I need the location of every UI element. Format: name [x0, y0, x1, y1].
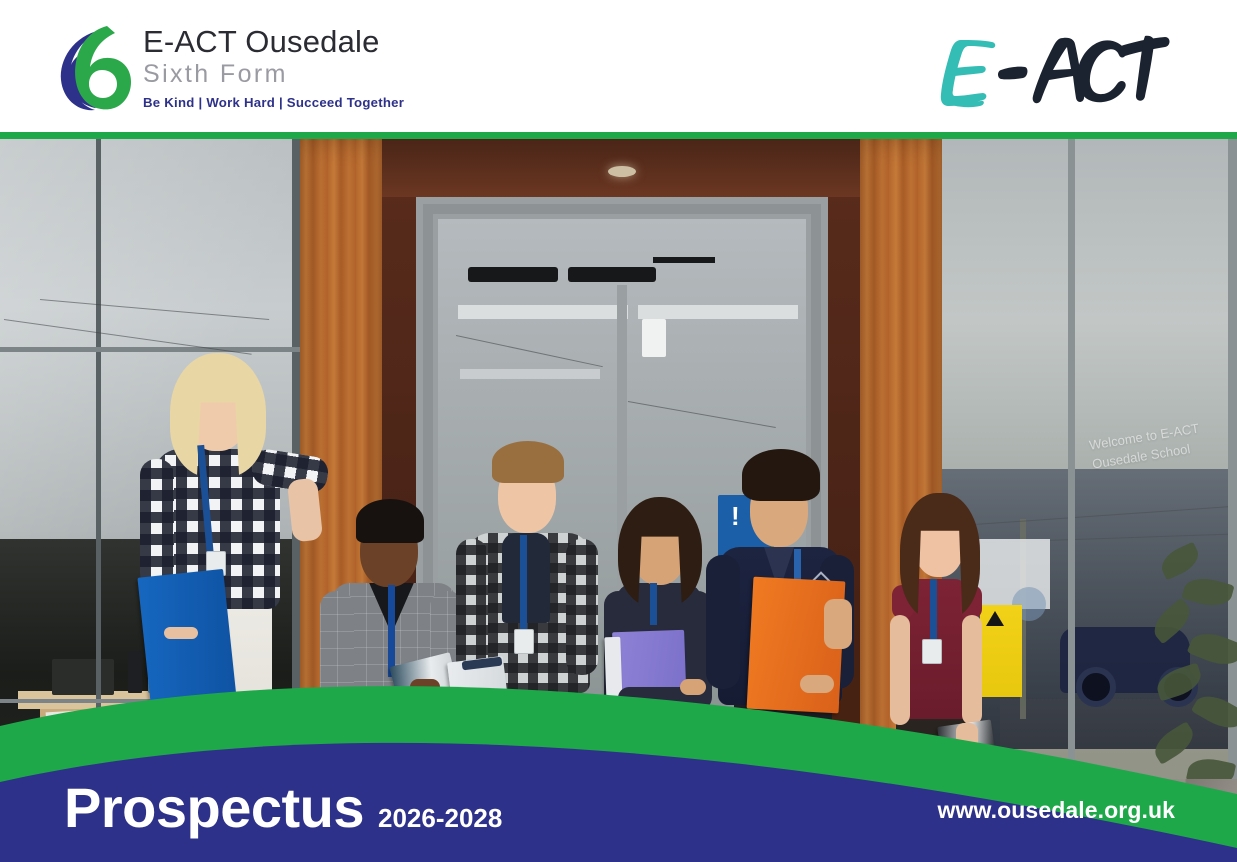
page-header: E-ACT Ousedale Sixth Form Be Kind | Work… — [0, 0, 1237, 132]
left-arm — [140, 459, 174, 589]
lobby-reflection — [460, 369, 600, 379]
lobby-light-fitting — [642, 319, 666, 357]
door-closer-bar — [568, 267, 656, 282]
lanyard — [520, 535, 527, 635]
numeral-six-swoosh-logo-icon — [55, 22, 133, 114]
lobby-reflection — [638, 305, 798, 319]
lobby-reflection — [458, 305, 628, 319]
page-title: E-ACT Ousedale — [143, 26, 404, 58]
prospectus-title-group: Prospectus 2026-2028 — [64, 780, 502, 836]
school-motto: Be Kind | Work Hard | Succeed Together — [143, 95, 404, 110]
curly-hair — [742, 449, 820, 501]
sixth-form-subtitle: Sixth Form — [143, 59, 404, 90]
prospectus-years: 2026-2028 — [378, 803, 502, 834]
door-closer-bar — [468, 267, 558, 282]
e-act-brush-logo-icon — [925, 24, 1175, 112]
hair — [492, 441, 564, 483]
reflected-cable — [628, 401, 776, 428]
lanyard — [650, 583, 657, 625]
hair — [356, 499, 424, 543]
website-url[interactable]: www.ousedale.org.uk — [938, 797, 1175, 824]
door-header-rail — [653, 257, 715, 263]
brand-text-block: E-ACT Ousedale Sixth Form Be Kind | Work… — [143, 22, 404, 110]
green-divider-rule — [0, 132, 1237, 139]
prospectus-cover: E-ACT Ousedale Sixth Form Be Kind | Work… — [0, 0, 1237, 862]
reflected-cable — [456, 335, 603, 367]
school-brand-lockup: E-ACT Ousedale Sixth Form Be Kind | Work… — [55, 22, 404, 114]
banner-text-layer: Prospectus 2026-2028 www.ousedale.org.uk — [0, 750, 1237, 862]
ceiling-downlight — [608, 166, 636, 177]
prospectus-title: Prospectus — [64, 780, 364, 836]
